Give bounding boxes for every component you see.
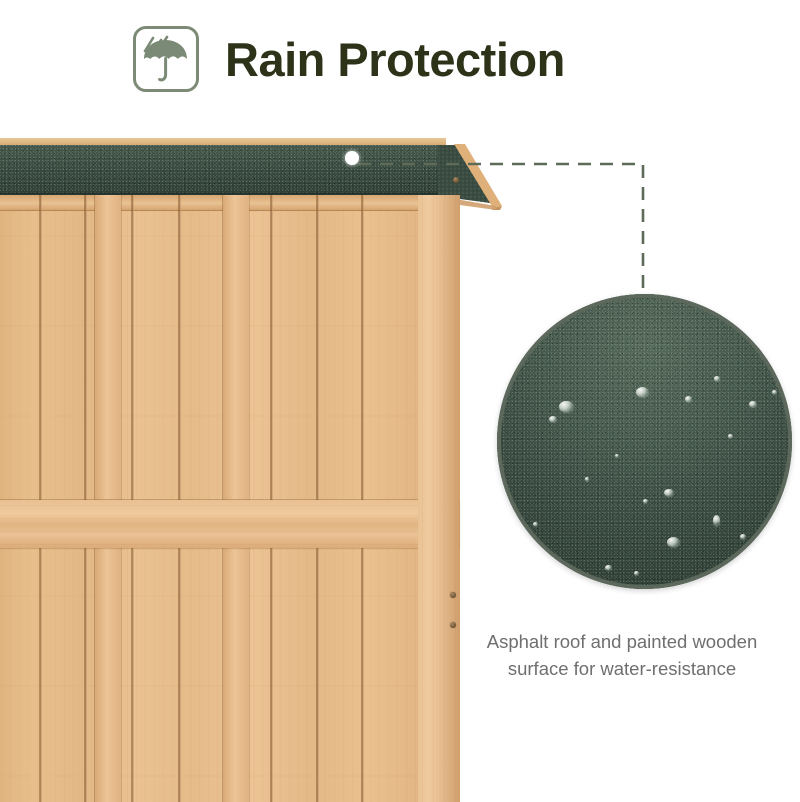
caption-line-2: surface for water-resistance [452,655,792,682]
roof-surface-marker [345,151,359,165]
feature-caption: Asphalt roof and painted wooden surface … [452,628,792,682]
product-feature-slide: Rain Protection [0,0,800,800]
water-droplet [759,552,767,558]
water-droplet [703,577,709,582]
closeup-border-ring [497,294,792,589]
asphalt-roof-closeup [497,294,792,589]
caption-line-1: Asphalt roof and painted wooden [452,628,792,655]
water-droplet [526,546,532,551]
